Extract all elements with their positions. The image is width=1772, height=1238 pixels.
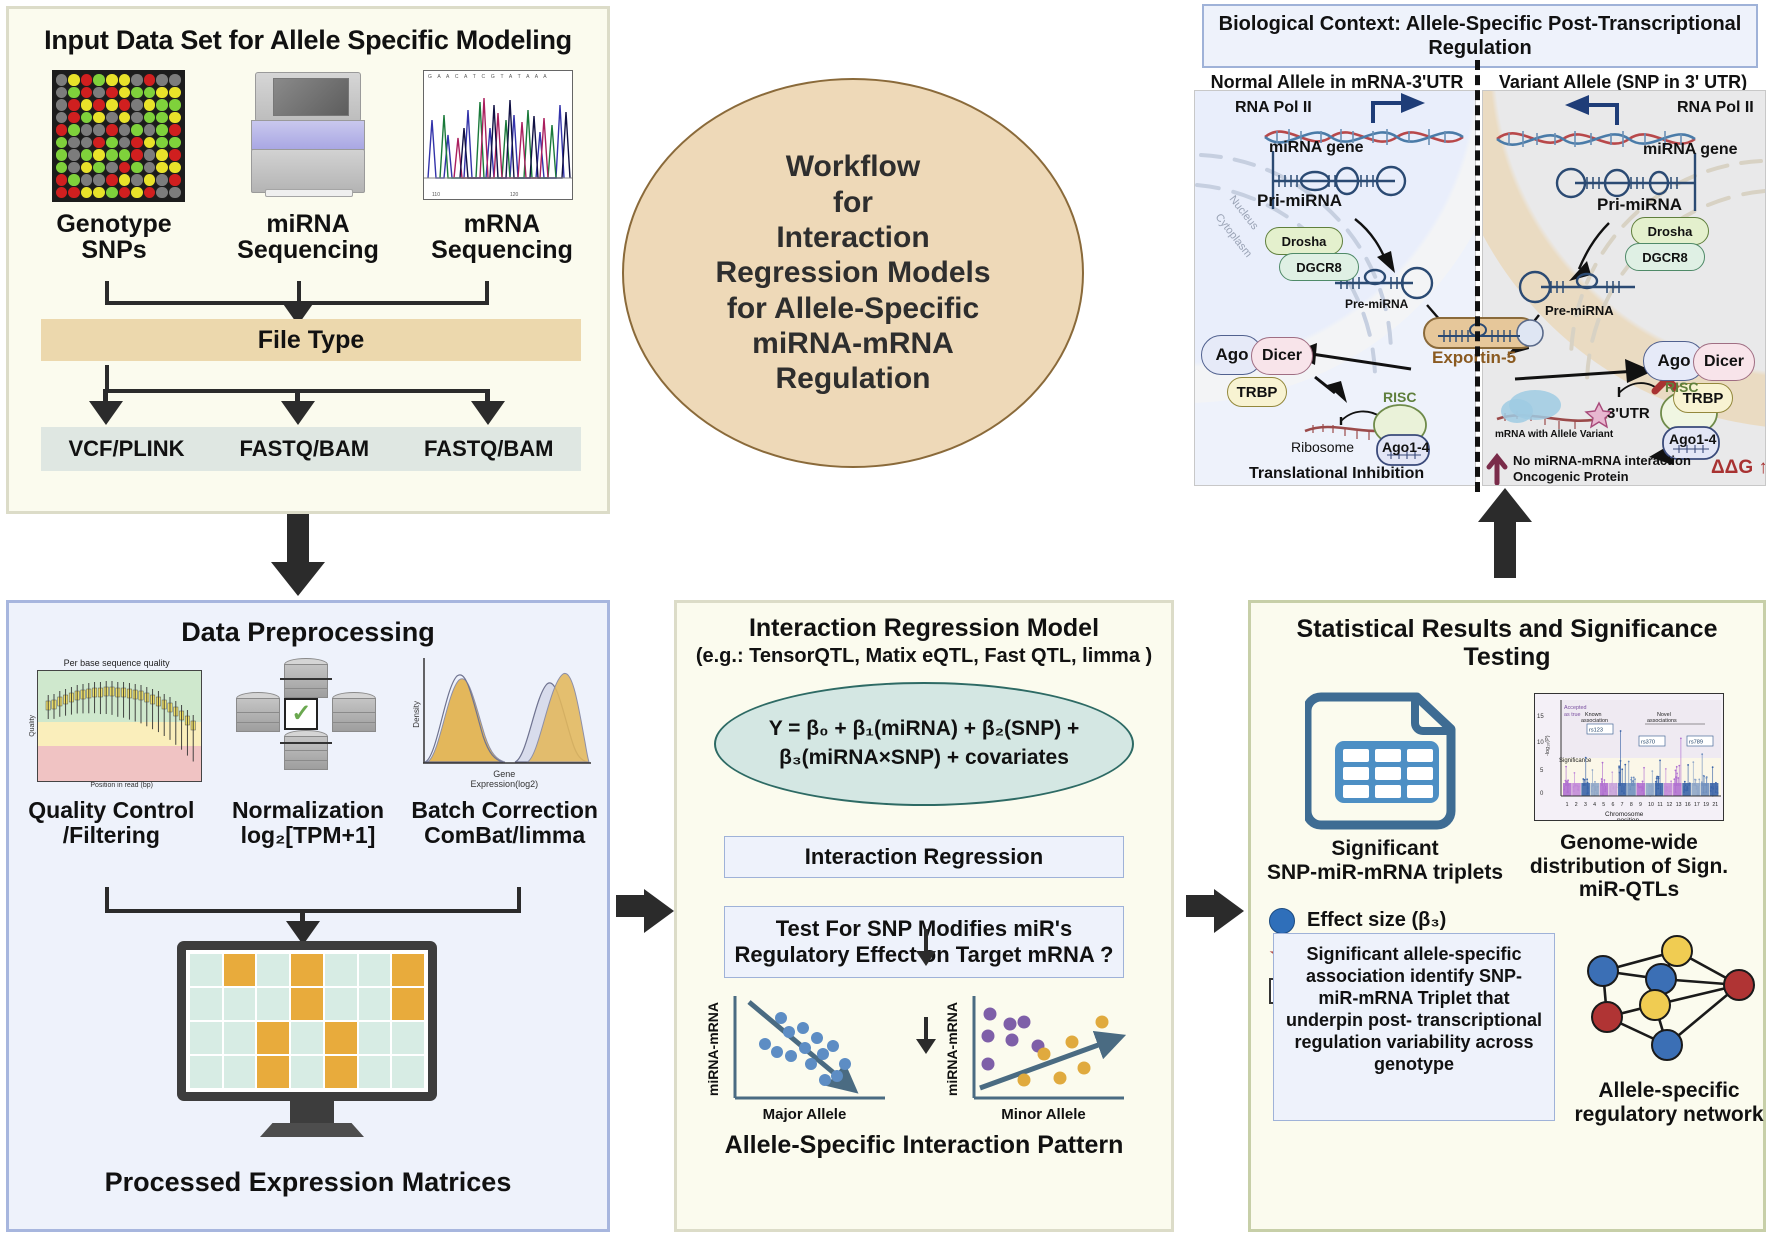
expression-matrix-cell bbox=[359, 988, 391, 1020]
genotype-chip-cell bbox=[169, 162, 181, 174]
genotype-chip-cell bbox=[81, 87, 93, 99]
svg-text:2: 2 bbox=[1575, 802, 1578, 808]
arrow-stem-stats-to-bio bbox=[1494, 516, 1516, 578]
left-ribosome-label: Ribosome bbox=[1291, 439, 1354, 455]
genotype-chip-cell bbox=[106, 174, 118, 186]
left-outcome-label: Translational Inhibition bbox=[1249, 465, 1424, 483]
left-ago14-label: Ago1-4 bbox=[1382, 439, 1429, 455]
right-mrna-variant-label: mRNA with Allele Variant bbox=[1495, 429, 1613, 440]
genotype-chip-cell bbox=[131, 112, 143, 124]
normalization-check-icon: ✓ bbox=[284, 698, 318, 730]
genotype-chip-cell bbox=[81, 187, 93, 199]
chromatogram-bases: G A A C A T C G T A T A A A bbox=[424, 71, 572, 80]
genotype-chip-cell bbox=[144, 162, 156, 174]
genotype-chip-cell bbox=[56, 124, 68, 136]
genotype-chip-cell bbox=[144, 124, 156, 136]
genotype-chip-cell bbox=[56, 99, 68, 111]
step-label-qc: Quality Control /Filtering bbox=[16, 798, 206, 848]
workflow-line-3: Interaction bbox=[715, 220, 990, 255]
fastqc-chart-title: Per base sequence quality bbox=[29, 658, 204, 668]
results-table-document-icon bbox=[1305, 683, 1465, 833]
svg-text:12: 12 bbox=[1667, 802, 1673, 808]
genotype-chip-cell bbox=[81, 174, 93, 186]
genotype-chip-cell bbox=[169, 74, 181, 86]
database-stack-icon: ✓ bbox=[220, 658, 395, 790]
biological-context-panel: Biological Context: Allele-Specific Post… bbox=[1190, 2, 1770, 492]
expression-matrix-cell bbox=[257, 1022, 289, 1054]
expression-matrix-cell bbox=[291, 1022, 323, 1054]
svg-text:10: 10 bbox=[1537, 740, 1544, 746]
genotype-chip-cell bbox=[81, 124, 93, 136]
genotype-chip-cell bbox=[93, 112, 105, 124]
preprocessing-output-label: Processed Expression Matrices bbox=[9, 1167, 607, 1198]
svg-text:6: 6 bbox=[1611, 802, 1614, 808]
genotype-chip-cell bbox=[93, 174, 105, 186]
arrow-head-stats-to-bio bbox=[1478, 488, 1532, 522]
left-mirna-gene-label: miRNA gene bbox=[1269, 139, 1364, 157]
genotype-chip-cell bbox=[93, 124, 105, 136]
stats-title-line-2: Testing bbox=[1251, 643, 1763, 671]
genotype-chip-cell bbox=[169, 137, 181, 149]
equation-line-1: Y = β₀ + β₁(miRNA) + β₂(SNP) + bbox=[769, 715, 1080, 743]
genotype-chip-cell bbox=[156, 149, 168, 161]
exportin-5-complex-icon bbox=[1422, 314, 1546, 352]
bio-header-line-2: Regulation bbox=[1208, 36, 1752, 60]
workflow-line-4: Regression Models bbox=[715, 255, 990, 290]
svg-text:15: 15 bbox=[1537, 714, 1544, 720]
variant-allele-cell-diagram: RNA Pol II miRNA gene Pri-miRNA Drosha D… bbox=[1482, 90, 1766, 486]
svg-text:association: association bbox=[1581, 718, 1608, 724]
right-outcome-line-1: No miRNA-mRNA interaction bbox=[1513, 453, 1691, 468]
bio-header-box: Biological Context: Allele-Specific Post… bbox=[1202, 4, 1758, 68]
expression-matrix-cell bbox=[291, 988, 323, 1020]
manhattan-plot: Accepted as true 15 10 5 0 Significance … bbox=[1534, 693, 1724, 821]
model-panel-footer: Allele-Specific Interaction Pattern bbox=[677, 1131, 1171, 1160]
genotype-chip-cell bbox=[106, 112, 118, 124]
genotype-chip-cell bbox=[156, 174, 168, 186]
genotype-chip-cell bbox=[68, 87, 80, 99]
manhattan-caption: Genome-wide distribution of Sign. miR-QT… bbox=[1509, 831, 1749, 902]
genotype-chip-cell bbox=[68, 74, 80, 86]
bio-header-line-1: Biological Context: Allele-Specific Post… bbox=[1208, 12, 1752, 36]
ft-arrow-mid bbox=[281, 401, 315, 425]
expression-matrix-cell bbox=[392, 1056, 424, 1088]
regression-equation-oval: Y = β₀ + β₁(miRNA) + β₂(SNP) + β₃(miRNA×… bbox=[714, 682, 1134, 806]
genotype-chip-cell bbox=[81, 74, 93, 86]
genotype-chip-cell bbox=[156, 87, 168, 99]
file-output-bar: VCF/PLINK FASTQ/BAM FASTQ/BAM bbox=[41, 427, 581, 471]
genotype-chip-array-icon bbox=[43, 70, 193, 205]
expression-matrix-cell bbox=[257, 1056, 289, 1088]
genotype-chip-cell bbox=[169, 87, 181, 99]
workflow-line-5: for Allele-Specific bbox=[715, 291, 990, 326]
genotype-chip-cell bbox=[56, 174, 68, 186]
density-plot-icon: Density Gene Expression(log2) bbox=[412, 658, 587, 790]
genotype-chip-cell bbox=[68, 112, 80, 124]
scatter-major-x-label: Major Allele bbox=[705, 1106, 905, 1123]
input-source-labels: Genotype SNPs miRNA Sequencing mRNA Sequ… bbox=[9, 211, 607, 264]
bracket-stem-right bbox=[485, 281, 489, 303]
svg-text:19: 19 bbox=[1703, 802, 1709, 808]
genotype-chip-cell bbox=[156, 124, 168, 136]
file-type-bar: File Type bbox=[41, 319, 581, 361]
genotype-chip-cell bbox=[156, 99, 168, 111]
genotype-chip-cell bbox=[81, 162, 93, 174]
document-caption: Significant SNP-miR-mRNA triplets bbox=[1261, 837, 1509, 884]
fastqc-x-axis-label: Position in read (bp) bbox=[39, 782, 204, 789]
expression-matrix-cell bbox=[359, 1056, 391, 1088]
equation-line-2: β₃(miRNA×SNP) + covariates bbox=[769, 744, 1080, 772]
genotype-chip-cell bbox=[169, 149, 181, 161]
svg-text:rs370: rs370 bbox=[1641, 740, 1655, 746]
left-rna-pol-label: RNA Pol II bbox=[1235, 99, 1312, 117]
stats-title-line-1: Statistical Results and Significance bbox=[1251, 615, 1763, 643]
preprocessing-step-labels: Quality Control /Filtering Normalization… bbox=[9, 798, 607, 848]
genotype-chip-cell bbox=[56, 162, 68, 174]
genotype-chip-cell bbox=[68, 149, 80, 161]
stats-panel-title: Statistical Results and Significance Tes… bbox=[1251, 615, 1763, 671]
genotype-chip-cell bbox=[119, 124, 131, 136]
svg-text:Accepted: Accepted bbox=[1564, 705, 1586, 711]
genotype-chip-cell bbox=[106, 99, 118, 111]
expression-matrix-cell bbox=[224, 988, 256, 1020]
genotype-chip-cell bbox=[169, 187, 181, 199]
genotype-chip-cell bbox=[131, 187, 143, 199]
svg-text:rs789: rs789 bbox=[1689, 740, 1703, 746]
arrow-head-model-to-stats bbox=[1214, 889, 1244, 933]
model-panel-title: Interaction Regression Model bbox=[677, 615, 1171, 643]
genotype-chip-cell bbox=[81, 137, 93, 149]
fastqc-boxplot-icon: Per base sequence quality Quality Positi… bbox=[29, 658, 204, 790]
left-risc-label: RISC bbox=[1383, 389, 1416, 405]
prep-bracket-rail bbox=[105, 909, 521, 913]
genotype-chip-cell bbox=[156, 162, 168, 174]
left-drosha-protein: Drosha bbox=[1265, 227, 1343, 255]
genotype-chip-cell bbox=[93, 187, 105, 199]
workflow-line-1: Workflow bbox=[715, 149, 990, 184]
expression-matrix-cell bbox=[257, 988, 289, 1020]
statistical-results-panel: Statistical Results and Significance Tes… bbox=[1248, 600, 1766, 1232]
chromatogram-icon: G A A C A T C G T A T A A A 110 120 bbox=[423, 70, 573, 205]
workflow-line-6: miRNA-mRNA bbox=[715, 326, 990, 361]
right-utr-label: 3'UTR bbox=[1607, 405, 1650, 422]
bracket-stem-left bbox=[105, 281, 109, 303]
left-dicer-protein: Dicer bbox=[1251, 337, 1313, 375]
expression-matrix-cell bbox=[291, 1056, 323, 1088]
left-pri-mirna-label: Pri-miRNA bbox=[1257, 191, 1342, 211]
network-graph-icon bbox=[1581, 923, 1761, 1073]
model-arrow-head-2 bbox=[916, 1039, 936, 1054]
expression-matrix-cell bbox=[190, 954, 222, 986]
genotype-chip-cell bbox=[56, 137, 68, 149]
expression-matrix-cell bbox=[257, 954, 289, 986]
expression-matrix-cell bbox=[392, 1022, 424, 1054]
input-source-icons: G A A C A T C G T A T A A A 110 120 bbox=[9, 70, 607, 205]
genotype-chip-cell bbox=[93, 74, 105, 86]
genotype-chip-cell bbox=[106, 124, 118, 136]
genotype-chip-cell bbox=[131, 137, 143, 149]
genotype-chip-cell bbox=[106, 187, 118, 199]
svg-text:-log₁₀(P): -log₁₀(P) bbox=[1545, 735, 1551, 756]
svg-text:3: 3 bbox=[1584, 802, 1587, 808]
expression-matrix-cell bbox=[359, 954, 391, 986]
expression-matrix-cell bbox=[190, 988, 222, 1020]
genotype-chip-cell bbox=[144, 187, 156, 199]
genotype-chip-cell bbox=[156, 74, 168, 86]
file-output-fastq-1: FASTQ/BAM bbox=[239, 436, 369, 462]
allele-divider-line bbox=[1475, 60, 1480, 492]
genotype-chip-cell bbox=[68, 137, 80, 149]
genotype-chip-cell bbox=[81, 149, 93, 161]
ft-arrow-right bbox=[471, 401, 505, 425]
genotype-chip-cell bbox=[56, 112, 68, 124]
genotype-chip-cell bbox=[93, 137, 105, 149]
genotype-chip-cell bbox=[68, 174, 80, 186]
genotype-chip-cell bbox=[119, 74, 131, 86]
right-pri-mirna-label: Pri-miRNA bbox=[1597, 195, 1682, 215]
arrow-head-input-to-prep bbox=[271, 562, 325, 596]
expression-matrix-cell bbox=[224, 1022, 256, 1054]
genotype-chip-cell bbox=[119, 112, 131, 124]
genotype-chip-cell bbox=[81, 112, 93, 124]
left-pre-mirna-label: Pre-miRNA bbox=[1345, 297, 1408, 311]
svg-text:10: 10 bbox=[1648, 802, 1654, 808]
scatter-major-y-label: miRNA-mRNA bbox=[705, 1002, 721, 1096]
source-label-genotype: Genotype SNPs bbox=[34, 211, 194, 264]
svg-text:1: 1 bbox=[1566, 802, 1569, 808]
genotype-chip-cell bbox=[144, 174, 156, 186]
expression-matrix-cell bbox=[325, 1022, 357, 1054]
genotype-chip-cell bbox=[156, 187, 168, 199]
svg-text:5: 5 bbox=[1602, 802, 1605, 808]
genotype-chip-cell bbox=[93, 162, 105, 174]
svg-text:21: 21 bbox=[1712, 802, 1718, 808]
network-caption: Allele-specific regulatory network bbox=[1569, 1079, 1769, 1126]
genotype-chip-cell bbox=[119, 87, 131, 99]
genotype-chip-cell bbox=[93, 149, 105, 161]
stats-conclusion-note: Significant allele-specific association … bbox=[1273, 933, 1555, 1121]
sequencer-machine-icon bbox=[233, 70, 383, 205]
svg-text:associations: associations bbox=[1647, 718, 1677, 724]
right-outcome-line-2: Oncogenic Protein bbox=[1513, 469, 1629, 484]
allele-scatter-plots: miRNA-mRNA Major Allele bbox=[677, 992, 1171, 1123]
svg-text:8: 8 bbox=[1630, 802, 1633, 808]
genotype-chip-cell bbox=[119, 149, 131, 161]
model-arrow-head-1 bbox=[916, 951, 936, 966]
left-trbp-protein: TRBP bbox=[1227, 377, 1287, 407]
svg-text:7: 7 bbox=[1621, 802, 1624, 808]
svg-text:9: 9 bbox=[1639, 802, 1642, 808]
expression-matrix-cell bbox=[224, 1056, 256, 1088]
genotype-chip-cell bbox=[131, 162, 143, 174]
genotype-chip-cell bbox=[56, 187, 68, 199]
right-ago14-label: Ago1-4 bbox=[1669, 431, 1716, 447]
genotype-chip-cell bbox=[56, 74, 68, 86]
svg-text:position: position bbox=[1617, 817, 1639, 821]
genotype-chip-cell bbox=[169, 99, 181, 111]
expression-matrix-cell bbox=[392, 988, 424, 1020]
svg-text:13: 13 bbox=[1676, 802, 1682, 808]
density-y-axis-label: Density bbox=[412, 701, 421, 728]
expression-matrix-cell bbox=[190, 1022, 222, 1054]
interaction-model-panel: Interaction Regression Model (e.g.: Tens… bbox=[674, 600, 1174, 1232]
file-output-vcf: VCF/PLINK bbox=[68, 436, 184, 462]
right-ddg-label: ΔΔG ↑ bbox=[1711, 457, 1766, 479]
workflow-line-2: for bbox=[715, 185, 990, 220]
genotype-chip-cell bbox=[68, 99, 80, 111]
expression-matrix-cell bbox=[224, 954, 256, 986]
expression-matrix-cell bbox=[359, 1022, 391, 1054]
legend-label-effect-size: Effect size (β₃) bbox=[1307, 909, 1446, 932]
genotype-chip-cell bbox=[156, 112, 168, 124]
prep-bracket-left bbox=[105, 887, 109, 911]
genotype-chip-cell bbox=[119, 137, 131, 149]
genotype-chip-cell bbox=[169, 124, 181, 136]
bracket-stem-mid bbox=[297, 281, 301, 303]
genotype-chip-cell bbox=[144, 112, 156, 124]
expression-matrix-cell bbox=[392, 954, 424, 986]
arrow-head-prep-to-model bbox=[644, 889, 674, 933]
genotype-chip-cell bbox=[131, 74, 143, 86]
genotype-chip-cell bbox=[169, 112, 181, 124]
genotype-chip-cell bbox=[106, 149, 118, 161]
workflow-title-oval: Workflow for Interaction Regression Mode… bbox=[622, 78, 1084, 468]
genotype-chip-cell bbox=[56, 149, 68, 161]
genotype-chip-cell bbox=[119, 174, 131, 186]
ft-arrow-left bbox=[89, 401, 123, 425]
right-rna-pol-label: RNA Pol II bbox=[1677, 99, 1754, 117]
arrow-stem-model-to-stats bbox=[1186, 895, 1216, 917]
genotype-chip-cell bbox=[131, 124, 143, 136]
right-dicer-protein: Dicer bbox=[1693, 343, 1755, 381]
expression-matrix-cell bbox=[325, 1056, 357, 1088]
blue-circle-icon bbox=[1269, 908, 1295, 934]
prep-bracket-right bbox=[517, 887, 521, 911]
genotype-chip-cell bbox=[131, 99, 143, 111]
right-pre-mirna-label: Pre-miRNA bbox=[1545, 303, 1614, 318]
genotype-chip-cell bbox=[169, 174, 181, 186]
svg-text:rs123: rs123 bbox=[1589, 728, 1603, 734]
scatter-minor-y-label: miRNA-mRNA bbox=[944, 1002, 960, 1096]
input-panel-title: Input Data Set for Allele Specific Model… bbox=[9, 25, 607, 56]
normal-allele-cell-diagram: Nucleus Cytoplasm bbox=[1194, 90, 1476, 486]
scatter-minor-x-label: Minor Allele bbox=[944, 1106, 1144, 1123]
right-risc-label: RISC bbox=[1665, 379, 1698, 395]
input-data-panel: Input Data Set for Allele Specific Model… bbox=[6, 6, 610, 514]
preprocessing-title: Data Preprocessing bbox=[9, 617, 607, 648]
genotype-chip-cell bbox=[106, 74, 118, 86]
genotype-chip-cell bbox=[81, 99, 93, 111]
genotype-chip-cell bbox=[68, 162, 80, 174]
ft-stem-left bbox=[105, 365, 109, 391]
step-label-normalization: Normalization log₂[TPM+1] bbox=[213, 798, 403, 848]
genotype-chip-cell bbox=[119, 99, 131, 111]
genotype-chip-cell bbox=[131, 149, 143, 161]
preprocessing-step-icons: Per base sequence quality Quality Positi… bbox=[9, 658, 607, 790]
genotype-chip-cell bbox=[93, 99, 105, 111]
genotype-chip-cell bbox=[119, 187, 131, 199]
svg-text:16: 16 bbox=[1685, 802, 1691, 808]
expression-matrix-cell bbox=[325, 988, 357, 1020]
genotype-chip-cell bbox=[68, 187, 80, 199]
arrow-stem-prep-to-model bbox=[616, 895, 646, 917]
expression-matrix-cell bbox=[291, 954, 323, 986]
genotype-chip-cell bbox=[119, 162, 131, 174]
scatter-major-allele: miRNA-mRNA Major Allele bbox=[705, 992, 905, 1123]
genotype-chip-cell bbox=[144, 137, 156, 149]
monitor-matrix-icon bbox=[177, 941, 447, 1156]
svg-text:17: 17 bbox=[1694, 802, 1700, 808]
genotype-chip-cell bbox=[131, 87, 143, 99]
genotype-chip-cell bbox=[106, 137, 118, 149]
genotype-chip-cell bbox=[131, 174, 143, 186]
genotype-chip-cell bbox=[106, 162, 118, 174]
data-preprocessing-panel: Data Preprocessing Per base sequence qua… bbox=[6, 600, 610, 1232]
svg-text:11: 11 bbox=[1657, 802, 1662, 808]
source-label-mirna: miRNA Sequencing bbox=[228, 211, 388, 264]
genotype-chip-cell bbox=[156, 137, 168, 149]
svg-text:4: 4 bbox=[1593, 802, 1596, 808]
workflow-line-7: Regulation bbox=[715, 361, 990, 396]
svg-text:as true: as true bbox=[1564, 712, 1580, 718]
genotype-chip-cell bbox=[106, 87, 118, 99]
expression-matrix-cell bbox=[190, 1056, 222, 1088]
expression-matrix-cell bbox=[325, 954, 357, 986]
genotype-chip-cell bbox=[68, 124, 80, 136]
genotype-chip-cell bbox=[93, 87, 105, 99]
genotype-chip-cell bbox=[144, 99, 156, 111]
density-x-axis-label: Gene Expression(log2) bbox=[422, 770, 587, 790]
left-dgcr8-protein: DGCR8 bbox=[1279, 253, 1359, 281]
right-drosha-protein: Drosha bbox=[1631, 217, 1709, 245]
source-label-mrna: mRNA Sequencing bbox=[422, 211, 582, 264]
genotype-chip-cell bbox=[144, 87, 156, 99]
right-dgcr8-protein: DGCR8 bbox=[1625, 243, 1705, 271]
svg-text:Significance: Significance bbox=[1559, 758, 1592, 764]
genotype-chip-cell bbox=[144, 74, 156, 86]
interaction-regression-box: Interaction Regression bbox=[724, 836, 1124, 878]
fastqc-y-axis-label: Quality bbox=[29, 715, 36, 737]
genotype-chip-cell bbox=[144, 149, 156, 161]
file-output-fastq-2: FASTQ/BAM bbox=[424, 436, 554, 462]
scatter-minor-allele: miRNA-mRNA bbox=[944, 992, 1144, 1123]
genotype-chip-cell bbox=[56, 87, 68, 99]
right-mirna-gene-label: miRNA gene bbox=[1643, 141, 1738, 159]
step-label-batch: Batch Correction ComBat/limma bbox=[410, 798, 600, 848]
model-panel-subtitle: (e.g.: TensorQTL, Matix eQTL, Fast QTL, … bbox=[677, 645, 1171, 668]
